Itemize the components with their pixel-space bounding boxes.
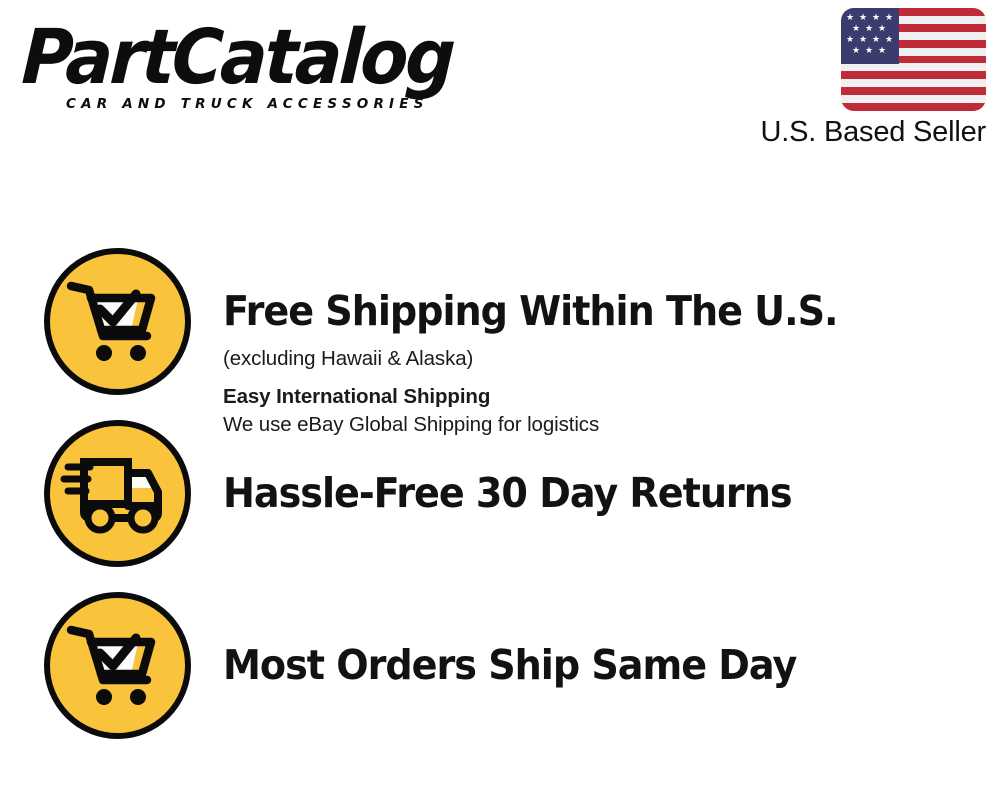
shopping-cart-check-icon [44,592,191,739]
flag-star-icon: ★ [885,36,893,45]
flag-star-icon: ★ [878,47,886,56]
flag-star-icon: ★ [859,14,867,23]
feature-heading: Free Shipping Within The U.S. [223,288,930,334]
feature-text-block: Most Orders Ship Same Day [223,642,983,688]
shopping-cart-check-glyph [50,598,185,733]
brand-logo[interactable]: PartCatalog CAR AND TRUCK ACCESSORIES [24,18,494,112]
feature-text-block: Free Shipping Within The U.S. (excluding… [223,288,983,439]
flag-star-icon: ★ [865,25,873,34]
us-based-seller-label: U.S. Based Seller [761,115,987,149]
flag-star-icon: ★ [852,47,860,56]
us-flag-icon: ★ ★ ★ ★ ★ ★ ★ ★ ★ ★ ★ ★ ★ ★ [841,8,986,111]
feature-subline: Easy International Shipping [223,383,983,411]
flag-star-icon: ★ [846,36,854,45]
flag-star-icon: ★ [846,14,854,23]
shopping-cart-check-glyph [50,254,185,389]
flag-star-icon: ★ [852,25,860,34]
flag-star-icon: ★ [872,36,880,45]
shopping-cart-check-icon [44,248,191,395]
flag-star-icon: ★ [872,14,880,23]
feature-heading: Hassle-Free 30 Day Returns [223,470,930,516]
us-based-seller-badge: ★ ★ ★ ★ ★ ★ ★ ★ ★ ★ ★ ★ ★ ★ U.S. Based S… [761,8,987,149]
feature-subline: (excluding Hawaii & Alaska) [223,345,983,373]
feature-subline: We use eBay Global Shipping for logistic… [223,411,983,439]
flag-star-icon: ★ [885,14,893,23]
feature-heading: Most Orders Ship Same Day [223,642,930,688]
page-header: PartCatalog CAR AND TRUCK ACCESSORIES ★ … [0,0,1000,180]
delivery-truck-glyph [50,426,185,561]
flag-star-icon: ★ [865,47,873,56]
feature-text-block: Hassle-Free 30 Day Returns [223,470,983,516]
brand-logo-wordmark: PartCatalog [20,18,494,96]
delivery-truck-icon [44,420,191,567]
flag-star-icon: ★ [878,25,886,34]
flag-star-icon: ★ [859,36,867,45]
